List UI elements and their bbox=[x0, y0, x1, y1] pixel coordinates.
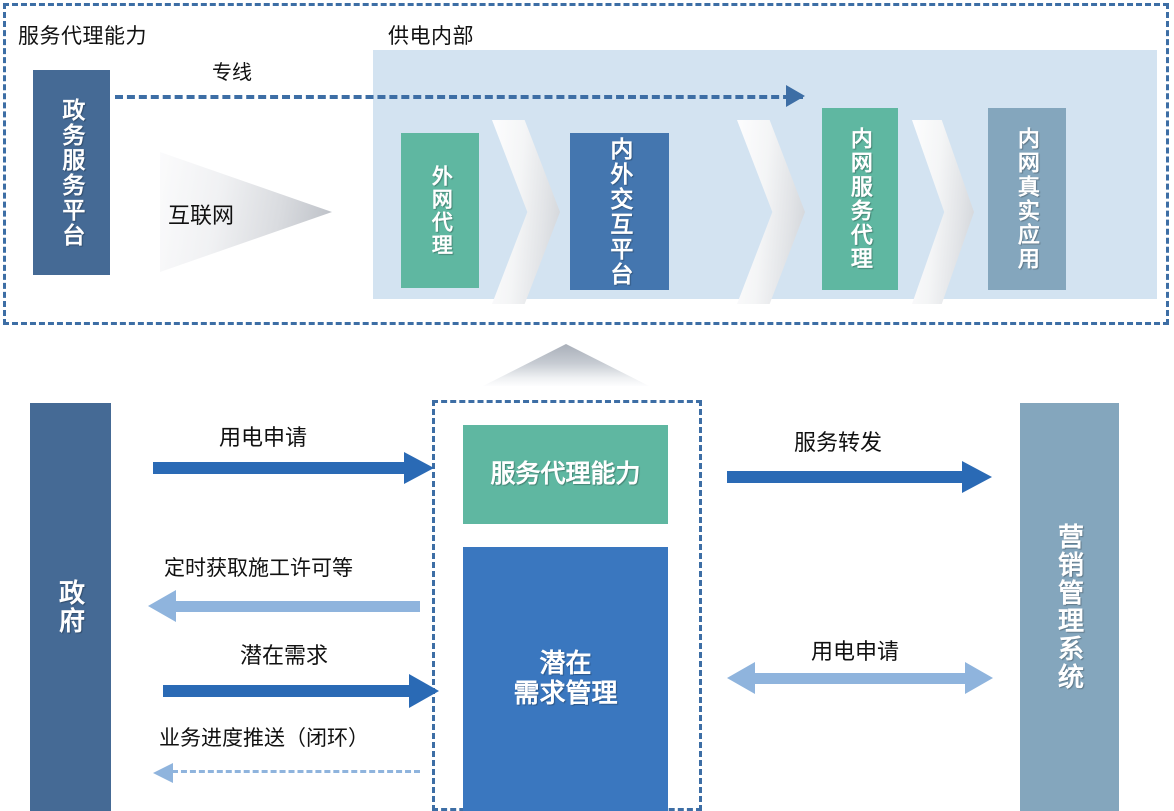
box-intranet-real-application-label: 内网真实应用 bbox=[1015, 127, 1039, 271]
internet-label: 互联网 bbox=[168, 198, 234, 230]
arrow-business-progress-push-head-icon bbox=[153, 763, 173, 783]
arrow-service-forward-head-icon bbox=[962, 461, 992, 493]
dedicated-line-arrowhead-icon bbox=[786, 85, 805, 107]
arrow-electricity-application-left-head-icon bbox=[404, 452, 434, 484]
box-government[interactable]: 政府 bbox=[30, 403, 111, 811]
arrow-electricity-application-right-head-icon bbox=[965, 662, 993, 694]
arrow-service-forward-shaft bbox=[727, 471, 966, 483]
box-potential-demand-management-line2: 需求管理 bbox=[513, 678, 617, 708]
box-external-network-proxy[interactable]: 外网代理 bbox=[401, 133, 479, 288]
arrow-electricity-application-left-shaft bbox=[153, 462, 408, 474]
arrow-electricity-application-left-head-icon-2 bbox=[727, 662, 755, 694]
arrow-label-electricity-application-right: 用电申请 bbox=[811, 634, 899, 666]
box-intranet-service-proxy[interactable]: 内网服务代理 bbox=[822, 108, 898, 290]
box-government-label: 政府 bbox=[56, 579, 84, 635]
arrow-electricity-application-right-shaft bbox=[748, 673, 970, 684]
box-intranet-real-application[interactable]: 内网真实应用 bbox=[988, 108, 1066, 290]
arrow-label-electricity-application-left: 用电申请 bbox=[219, 420, 307, 452]
arrow-label-potential-demand: 潜在需求 bbox=[240, 638, 328, 670]
box-government-service-platform-label: 政务服务平台 bbox=[59, 98, 84, 248]
arrow-label-business-progress-push: 业务进度推送（闭环） bbox=[159, 722, 369, 752]
diagram-canvas: 服务代理能力 供电内部 政务服务平台 专线 互联网 外网代理 内外交互平台 内网… bbox=[0, 0, 1174, 811]
arrow-business-progress-push-line bbox=[172, 770, 420, 773]
box-potential-demand-management[interactable]: 潜在 需求管理 bbox=[463, 547, 668, 811]
box-service-agency-capability-label: 服务代理能力 bbox=[490, 460, 640, 489]
upward-chevron-icon bbox=[483, 344, 649, 386]
box-marketing-management-system-label: 营销管理系统 bbox=[1055, 523, 1083, 691]
top-left-section-title: 服务代理能力 bbox=[18, 20, 147, 50]
arrow-scheduled-permit-fetch-shaft bbox=[168, 601, 420, 612]
dedicated-line-connector bbox=[115, 95, 803, 99]
box-external-network-proxy-label: 外网代理 bbox=[429, 165, 452, 257]
box-marketing-management-system[interactable]: 营销管理系统 bbox=[1020, 403, 1119, 811]
arrow-potential-demand-shaft bbox=[163, 685, 413, 697]
box-government-service-platform[interactable]: 政务服务平台 bbox=[33, 70, 110, 275]
top-right-section-title: 供电内部 bbox=[388, 20, 474, 50]
dedicated-line-label: 专线 bbox=[212, 56, 252, 85]
box-potential-demand-management-line1: 潜在 bbox=[539, 648, 591, 678]
arrow-scheduled-permit-fetch-head-icon bbox=[148, 590, 176, 622]
box-internal-external-exchange-platform[interactable]: 内外交互平台 bbox=[570, 133, 669, 290]
arrow-label-service-forward: 服务转发 bbox=[794, 425, 882, 457]
arrow-label-scheduled-permit-fetch: 定时获取施工许可等 bbox=[164, 552, 353, 582]
box-service-agency-capability[interactable]: 服务代理能力 bbox=[463, 425, 668, 524]
box-internal-external-exchange-platform-label: 内外交互平台 bbox=[607, 137, 632, 287]
box-potential-demand-management-label: 潜在 需求管理 bbox=[513, 649, 617, 709]
box-intranet-service-proxy-label: 内网服务代理 bbox=[848, 127, 872, 271]
arrow-potential-demand-head-icon bbox=[409, 674, 439, 708]
